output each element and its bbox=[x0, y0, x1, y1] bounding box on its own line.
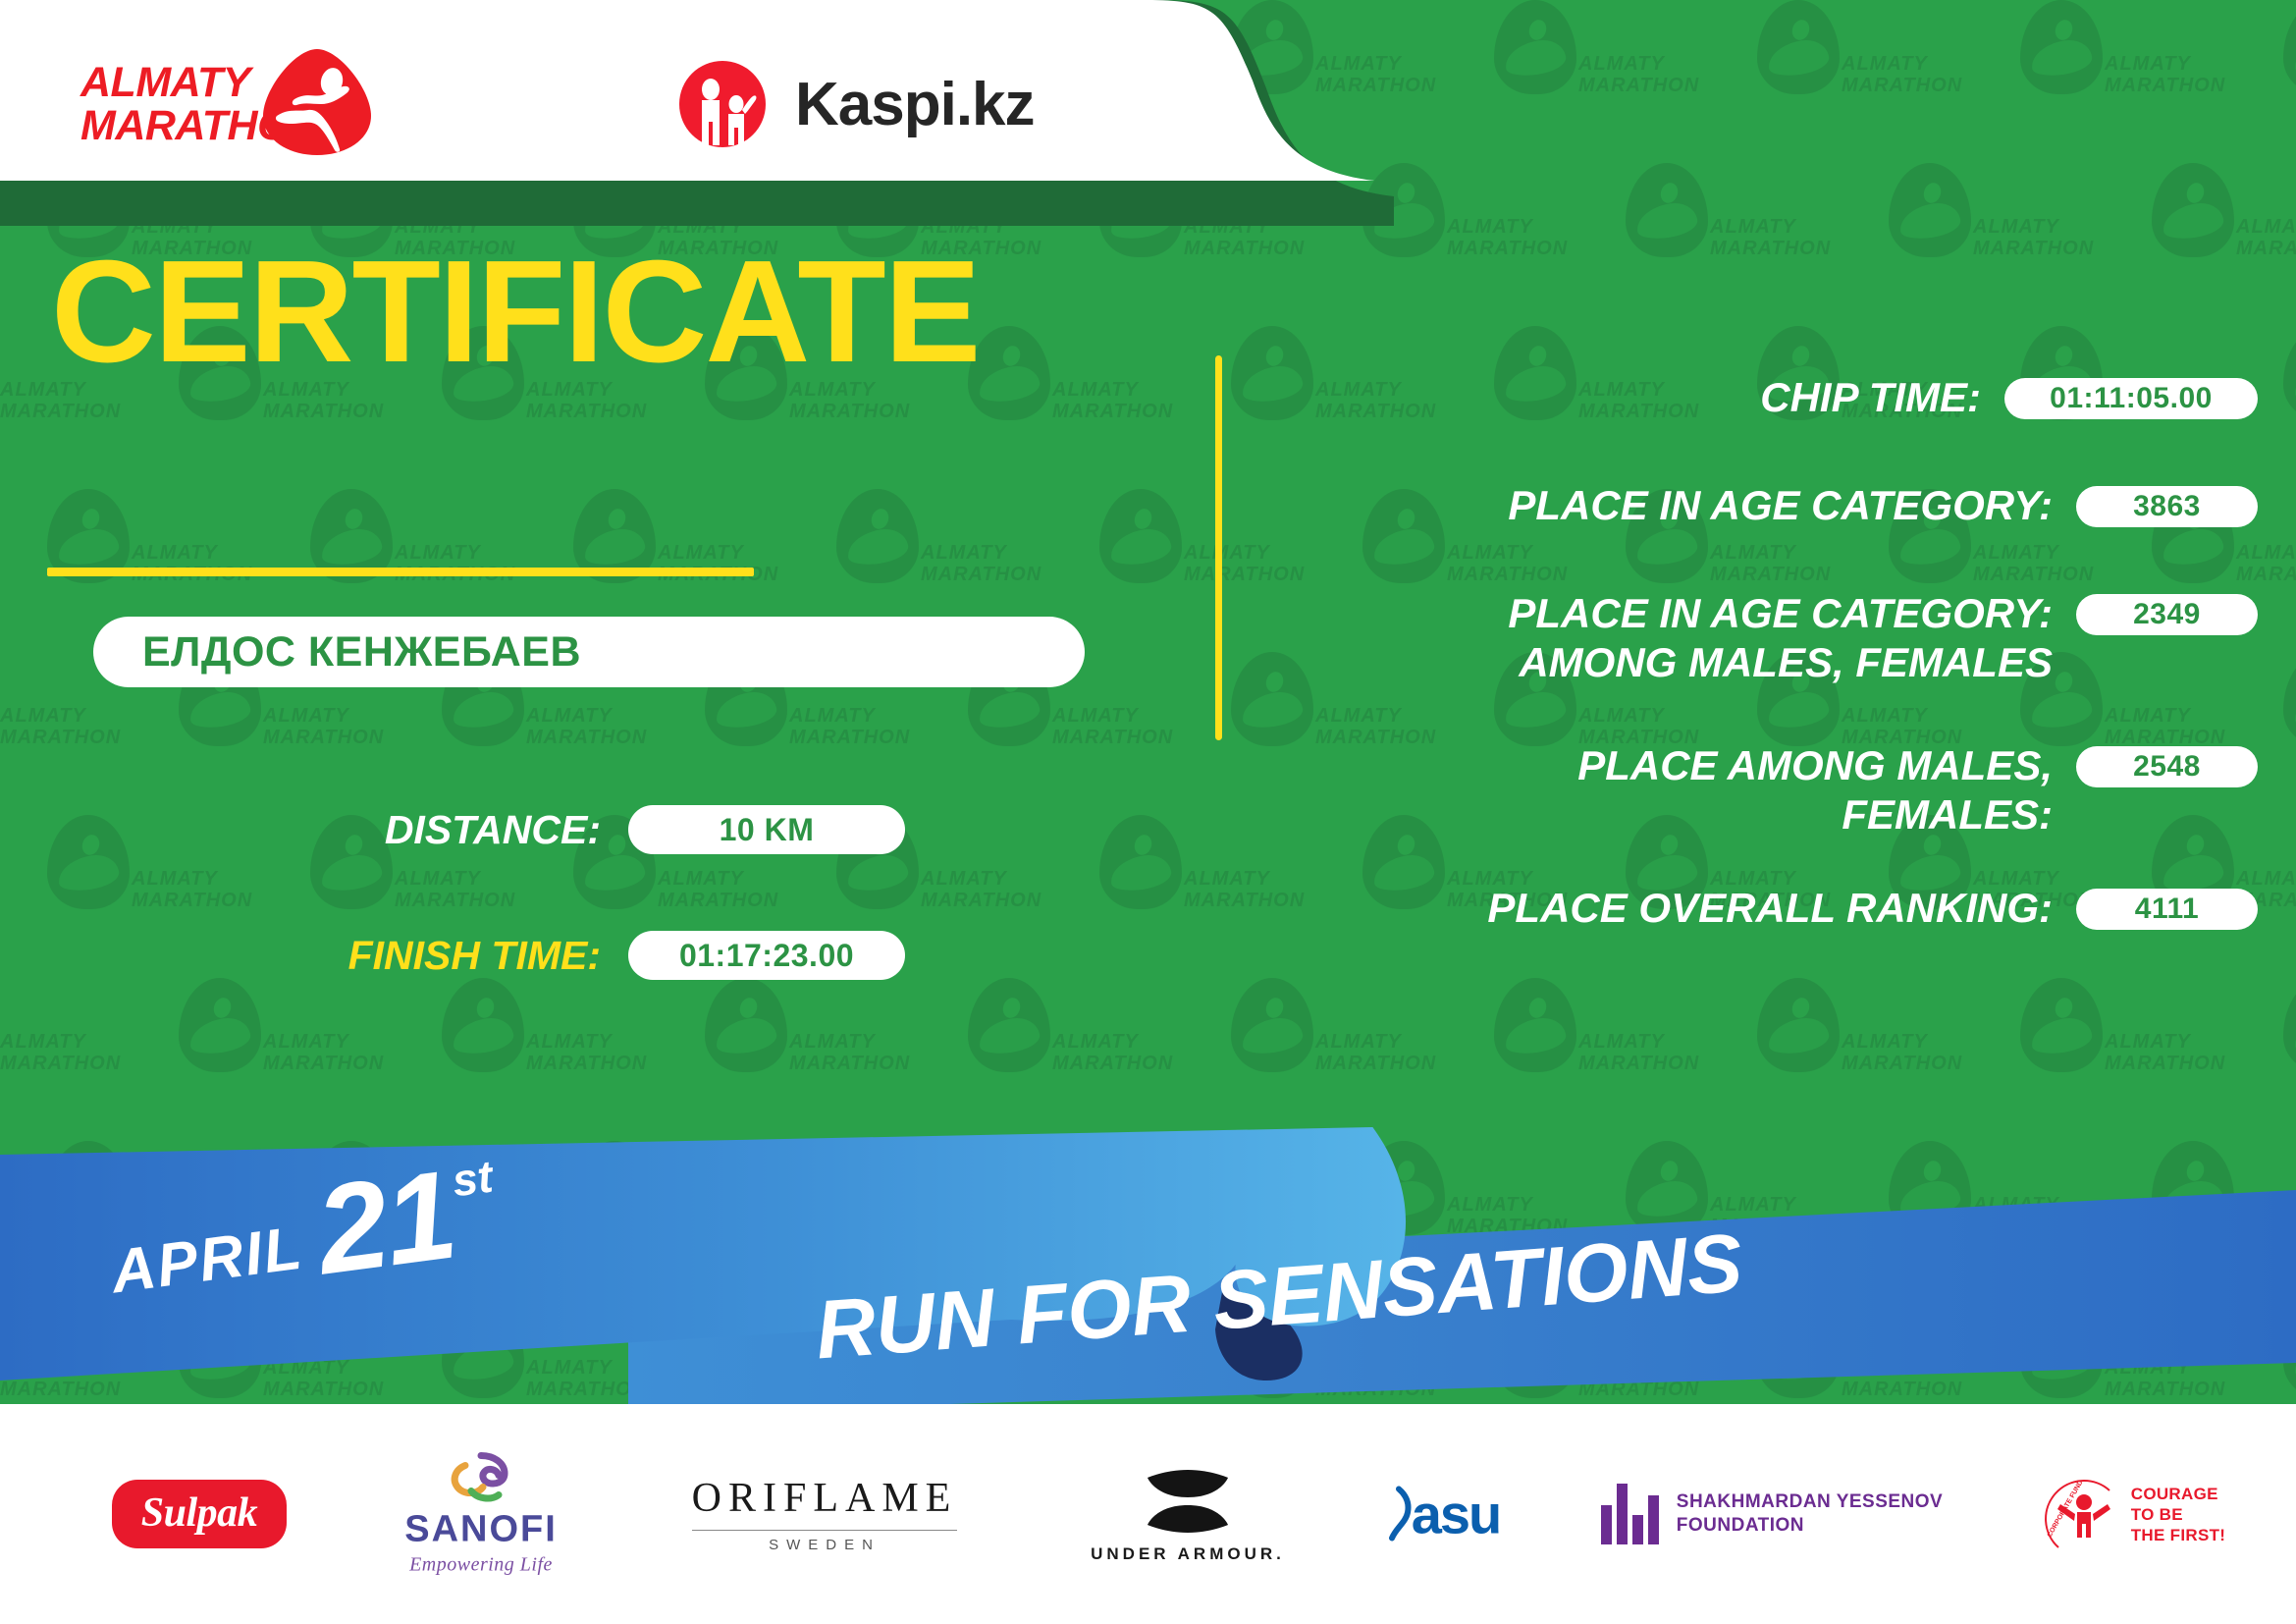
watermark-line1: ALMATY bbox=[921, 542, 1007, 565]
courage-person-icon: CORPORATE FUND bbox=[2045, 1475, 2121, 1553]
watermark-tile: ALMATYMARATHON bbox=[1842, 0, 2105, 163]
watermark-drop-icon bbox=[179, 1304, 261, 1398]
stat-value-place-age-category: 3863 bbox=[2133, 490, 2201, 523]
watermark-line2: MARATHON bbox=[2105, 1053, 2225, 1075]
watermark-tile: ALMATYMARATHON bbox=[1578, 978, 1842, 1141]
yessenov-wordmark: SHAKHMARDAN YESSENOV FOUNDATION bbox=[1677, 1490, 1943, 1538]
watermark-tile: ALMATYMARATHON bbox=[1315, 1304, 1578, 1404]
watermark-line1: ALMATY bbox=[2105, 53, 2191, 76]
watermark-line1: ALMATY bbox=[526, 1357, 613, 1380]
watermark-tile: ALMATYMARATHON bbox=[2236, 163, 2296, 326]
participant-name-field: ЕЛДОС КЕНЖЕБАЕВ bbox=[93, 617, 1085, 687]
watermark-tile: ALMATYMARATHON bbox=[1710, 1141, 1973, 1304]
watermark-drop-icon bbox=[1757, 0, 1840, 94]
watermark-line2: MARATHON bbox=[2105, 1379, 2225, 1401]
watermark-line2: MARATHON bbox=[1842, 1379, 1962, 1401]
watermark-line2: MARATHON bbox=[1842, 1053, 1962, 1075]
watermark-line2: MARATHON bbox=[263, 1053, 384, 1075]
watermark-drop-icon bbox=[2020, 0, 2103, 94]
watermark-line2: MARATHON bbox=[1842, 75, 1962, 97]
sponsor-logo-courage-fund: CORPORATE FUND COURAGE TO BE THE FIRST! bbox=[2022, 1475, 2248, 1553]
watermark-line1: ALMATY bbox=[1315, 1031, 1402, 1054]
watermark-line2: MARATHON bbox=[658, 890, 778, 912]
watermark-drop-icon bbox=[836, 489, 919, 583]
finish-time-value-pill: 01:17:23.00 bbox=[628, 931, 905, 980]
watermark-drop-icon bbox=[1231, 1304, 1313, 1398]
stat-value-place-among-gender: 2548 bbox=[2133, 750, 2201, 784]
sponsor-logo-oriflame: ORIFLAME SWEDEN bbox=[677, 1475, 972, 1553]
watermark-line1: ALMATY bbox=[0, 1031, 86, 1054]
watermark-line2: MARATHON bbox=[132, 1216, 252, 1238]
watermark-line2: MARATHON bbox=[921, 564, 1041, 586]
distance-value: 10 KM bbox=[720, 812, 815, 848]
watermark-line1: ALMATY bbox=[658, 542, 744, 565]
courage-wordmark: COURAGE TO BE THE FIRST! bbox=[2131, 1484, 2226, 1545]
stat-label-line1: PLACE AMONG MALES, bbox=[1276, 741, 2053, 790]
watermark-drop-icon bbox=[573, 1141, 656, 1235]
watermark-line1: ALMATY bbox=[1578, 705, 1665, 728]
watermark-tile: ALMATYMARATHON bbox=[921, 1141, 1184, 1304]
watermark-line2: MARATHON bbox=[2236, 1216, 2296, 1238]
watermark-line1: ALMATY bbox=[921, 868, 1007, 891]
watermark-tile: ALMATYMARATHON bbox=[1973, 163, 2236, 326]
finish-time-row: FINISH TIME: 01:17:23.00 bbox=[0, 931, 1178, 980]
stat-label-line1: PLACE IN AGE CATEGORY: bbox=[1276, 589, 2053, 638]
watermark-line1: ALMATY bbox=[1710, 542, 1796, 565]
watermark-tile: ALMATYMARATHON bbox=[526, 978, 789, 1141]
watermark-line2: MARATHON bbox=[1315, 1379, 1436, 1401]
watermark-drop-icon bbox=[1494, 0, 1576, 94]
watermark-drop-icon bbox=[1362, 1141, 1445, 1235]
watermark-line1: ALMATY bbox=[0, 1357, 86, 1380]
watermark-drop-icon bbox=[2152, 163, 2234, 257]
sponsor-logo-sulpak: Sulpak bbox=[86, 1480, 312, 1548]
watermark-line2: MARATHON bbox=[921, 1216, 1041, 1238]
watermark-drop-icon bbox=[1494, 1304, 1576, 1398]
watermark-line1: ALMATY bbox=[1842, 1357, 1928, 1380]
watermark-line1: ALMATY bbox=[1578, 1357, 1665, 1380]
watermark-line2: MARATHON bbox=[1973, 238, 2094, 260]
watermark-line2: MARATHON bbox=[526, 401, 647, 423]
watermark-drop-icon bbox=[2283, 0, 2296, 94]
watermark-line2: MARATHON bbox=[789, 727, 910, 749]
watermark-line1: ALMATY bbox=[1315, 1357, 1402, 1380]
sanofi-tagline: Empowering Life bbox=[404, 1554, 558, 1577]
watermark-drop-icon bbox=[1231, 978, 1313, 1072]
watermark-line1: ALMATY bbox=[2105, 705, 2191, 728]
watermark-drop-icon bbox=[1626, 1141, 1708, 1235]
watermark-line2: MARATHON bbox=[395, 1216, 515, 1238]
watermark-line2: MARATHON bbox=[0, 727, 121, 749]
courage-line1: COURAGE bbox=[2131, 1484, 2226, 1504]
watermark-line2: MARATHON bbox=[789, 1053, 910, 1075]
watermark-line1: ALMATY bbox=[1184, 868, 1270, 891]
watermark-line1: ALMATY bbox=[1842, 1031, 1928, 1054]
stat-value-pill-place-age-category-gender: 2349 bbox=[2076, 594, 2258, 635]
watermark-line2: MARATHON bbox=[1447, 1216, 1568, 1238]
watermark-line2: MARATHON bbox=[1447, 238, 1568, 260]
watermark-drop-icon bbox=[2283, 978, 2296, 1072]
stat-label-place-age-category: PLACE IN AGE CATEGORY: bbox=[1276, 481, 2076, 530]
watermark-tile: ALMATYMARATHON bbox=[2105, 1304, 2296, 1404]
watermark-drop-icon bbox=[968, 978, 1050, 1072]
stat-value-place-overall: 4111 bbox=[2135, 893, 2199, 926]
watermark-line2: MARATHON bbox=[1973, 1216, 2094, 1238]
oriflame-divider bbox=[692, 1530, 958, 1531]
watermark-line1: ALMATY bbox=[526, 1031, 613, 1054]
watermark-tile: ALMATYMARATHON bbox=[263, 1304, 526, 1404]
watermark-line2: MARATHON bbox=[263, 1379, 384, 1401]
watermark-drop-icon bbox=[1757, 1304, 1840, 1398]
watermark-line2: MARATHON bbox=[1184, 1216, 1305, 1238]
watermark-line2: MARATHON bbox=[1973, 564, 2094, 586]
oriflame-wordmark: ORIFLAME bbox=[692, 1475, 958, 1522]
yessenov-line1: SHAKHMARDAN YESSENOV bbox=[1677, 1490, 1943, 1514]
watermark-line2: MARATHON bbox=[789, 401, 910, 423]
watermark-line2: MARATHON bbox=[0, 1053, 121, 1075]
watermark-tile: ALMATYMARATHON bbox=[2105, 0, 2296, 163]
watermark-line1: ALMATY bbox=[263, 705, 349, 728]
stat-label-place-age-category-gender: PLACE IN AGE CATEGORY: AMONG MALES, FEMA… bbox=[1276, 589, 2076, 687]
watermark-line2: MARATHON bbox=[1578, 1053, 1699, 1075]
watermark-line2: MARATHON bbox=[1578, 1379, 1699, 1401]
watermark-tile: ALMATYMARATHON bbox=[1973, 1141, 2236, 1304]
finish-time-label: FINISH TIME: bbox=[0, 933, 628, 979]
sanofi-mark-icon bbox=[442, 1452, 520, 1505]
watermark-line2: MARATHON bbox=[1710, 564, 1831, 586]
watermark-tile: ALMATYMARATHON bbox=[1842, 1304, 2105, 1404]
watermark-drop-icon bbox=[442, 1304, 524, 1398]
stat-value-pill-place-overall: 4111 bbox=[2076, 889, 2258, 930]
sponsor-strip: Sulpak SANOFI Empowering Life ORIFLAME S… bbox=[0, 1404, 2296, 1624]
watermark-tile: ALMATYMARATHON bbox=[1447, 1141, 1710, 1304]
watermark-line1: ALMATY bbox=[132, 542, 218, 565]
watermark-line1: ALMATY bbox=[263, 1357, 349, 1380]
stat-row-place-overall: PLACE OVERALL RANKING: 4111 bbox=[1276, 884, 2258, 933]
watermark-drop-icon bbox=[1494, 978, 1576, 1072]
watermark-drop-icon bbox=[2020, 1304, 2103, 1398]
stat-label-line2: FEMALES: bbox=[1276, 790, 2053, 839]
watermark-tile: ALMATYMARATHON bbox=[0, 1304, 263, 1404]
watermark-drop-icon bbox=[47, 1141, 130, 1235]
stat-label-place-overall: PLACE OVERALL RANKING: bbox=[1276, 884, 2076, 933]
stat-row-place-age-category: PLACE IN AGE CATEGORY: 3863 bbox=[1276, 481, 2258, 530]
sulpak-wordmark: Sulpak bbox=[141, 1490, 257, 1536]
watermark-line2: MARATHON bbox=[1447, 564, 1568, 586]
watermark-drop-icon bbox=[1099, 489, 1182, 583]
watermark-line2: MARATHON bbox=[0, 401, 121, 423]
runner-drop-icon bbox=[259, 47, 375, 157]
watermark-line2: MARATHON bbox=[1052, 1379, 1173, 1401]
asu-mark-icon bbox=[1386, 1485, 1412, 1543]
watermark-line2: MARATHON bbox=[1578, 75, 1699, 97]
watermark-line1: ALMATY bbox=[1447, 1194, 1533, 1217]
oriflame-sub: SWEDEN bbox=[692, 1537, 958, 1553]
watermark-line1: ALMATY bbox=[2236, 1194, 2296, 1217]
watermark-tile: ALMATYMARATHON bbox=[263, 978, 526, 1141]
under-armour-icon bbox=[1114, 1464, 1261, 1539]
watermark-line2: MARATHON bbox=[1710, 1216, 1831, 1238]
watermark-line1: ALMATY bbox=[263, 1031, 349, 1054]
stat-row-chip-time: CHIP TIME: 01:11:05.00 bbox=[1276, 373, 2258, 422]
under-armour-wordmark: UNDER ARMOUR. bbox=[1091, 1544, 1285, 1564]
watermark-line1: ALMATY bbox=[789, 1357, 876, 1380]
watermark-drop-icon bbox=[836, 1141, 919, 1235]
stat-label-place-among-gender: PLACE AMONG MALES, FEMALES: bbox=[1276, 741, 2076, 839]
watermark-line2: MARATHON bbox=[526, 727, 647, 749]
watermark-tile: ALMATYMARATHON bbox=[1578, 1304, 1842, 1404]
watermark-tile: ALMATYMARATHON bbox=[2236, 1141, 2296, 1304]
courage-line3: THE FIRST! bbox=[2131, 1525, 2226, 1545]
watermark-drop-icon bbox=[968, 1304, 1050, 1398]
watermark-tile: ALMATYMARATHON bbox=[395, 1141, 658, 1304]
stat-value-pill-place-age-category: 3863 bbox=[2076, 486, 2258, 527]
kaspi-people-icon bbox=[675, 57, 770, 151]
watermark-tile: ALMATYMARATHON bbox=[1710, 163, 1973, 326]
watermark-line1: ALMATY bbox=[1973, 542, 2059, 565]
watermark-drop-icon bbox=[2152, 1141, 2234, 1235]
watermark-line1: ALMATY bbox=[395, 542, 481, 565]
watermark-drop-icon bbox=[2020, 978, 2103, 1072]
sponsor-logo-asu: asu bbox=[1345, 1483, 1541, 1546]
watermark-line1: ALMATY bbox=[1315, 705, 1402, 728]
watermark-line2: MARATHON bbox=[0, 1379, 121, 1401]
sponsor-logo-under-armour: UNDER ARMOUR. bbox=[1070, 1464, 1306, 1564]
watermark-line1: ALMATY bbox=[1052, 379, 1139, 402]
courage-line2: TO BE bbox=[2131, 1504, 2226, 1525]
watermark-tile: ALMATYMARATHON bbox=[1052, 1304, 1315, 1404]
stat-value-chip-time: 01:11:05.00 bbox=[2050, 382, 2213, 415]
watermark-tile: ALMATYMARATHON bbox=[658, 1141, 921, 1304]
watermark-line1: ALMATY bbox=[526, 705, 613, 728]
watermark-tile: ALMATYMARATHON bbox=[1842, 978, 2105, 1141]
watermark-line1: ALMATY bbox=[1842, 705, 1928, 728]
watermark-tile: ALMATYMARATHON bbox=[789, 1304, 1052, 1404]
stat-row-place-age-category-gender: PLACE IN AGE CATEGORY: AMONG MALES, FEMA… bbox=[1276, 589, 2258, 687]
watermark-line1: ALMATY bbox=[2236, 542, 2296, 565]
watermark-line2: MARATHON bbox=[1052, 727, 1173, 749]
title-divider bbox=[47, 568, 754, 576]
watermark-line2: MARATHON bbox=[2236, 238, 2296, 260]
watermark-tile: ALMATYMARATHON bbox=[1184, 1141, 1447, 1304]
watermark-drop-icon bbox=[2283, 1304, 2296, 1398]
finish-time-value: 01:17:23.00 bbox=[679, 938, 854, 974]
yessenov-line2: FOUNDATION bbox=[1677, 1514, 1943, 1538]
distance-value-pill: 10 KM bbox=[628, 805, 905, 854]
sponsor-logo-yessenov-foundation: SHAKHMARDAN YESSENOV FOUNDATION bbox=[1600, 1484, 1944, 1544]
watermark-tile: ALMATYMARATHON bbox=[1052, 978, 1315, 1141]
watermark-line1: ALMATY bbox=[2236, 216, 2296, 239]
watermark-line1: ALMATY bbox=[2105, 1357, 2191, 1380]
watermark-line1: ALMATY bbox=[1447, 542, 1533, 565]
watermark-tile: ALMATYMARATHON bbox=[1315, 978, 1578, 1141]
watermark-drop-icon bbox=[310, 1141, 393, 1235]
watermark-line1: ALMATY bbox=[1578, 1031, 1665, 1054]
watermark-line1: ALMATY bbox=[921, 1194, 1007, 1217]
watermark-line2: MARATHON bbox=[395, 890, 515, 912]
stat-label-line2: AMONG MALES, FEMALES bbox=[1276, 638, 2053, 687]
distance-label: DISTANCE: bbox=[0, 807, 628, 853]
sponsor-logo-sanofi: SANOFI Empowering Life bbox=[368, 1452, 594, 1577]
watermark-line1: ALMATY bbox=[658, 1194, 744, 1217]
watermark-line1: ALMATY bbox=[1184, 1194, 1270, 1217]
watermark-line1: ALMATY bbox=[2105, 1031, 2191, 1054]
watermark-line2: MARATHON bbox=[132, 890, 252, 912]
watermark-line1: ALMATY bbox=[0, 705, 86, 728]
watermark-line2: MARATHON bbox=[1710, 238, 1831, 260]
watermark-drop-icon bbox=[2283, 326, 2296, 420]
watermark-drop-icon bbox=[1757, 978, 1840, 1072]
certificate-canvas: ALMATYMARATHONALMATYMARATHONALMATYMARATH… bbox=[0, 0, 2296, 1624]
watermark-tile: ALMATYMARATHON bbox=[132, 1141, 395, 1304]
watermark-line1: ALMATY bbox=[1052, 1357, 1139, 1380]
watermark-drop-icon bbox=[2283, 652, 2296, 746]
watermark-line2: MARATHON bbox=[921, 890, 1041, 912]
stat-label-chip-time: CHIP TIME: bbox=[1276, 373, 2004, 422]
asu-wordmark: asu bbox=[1412, 1483, 1501, 1546]
watermark-line2: MARATHON bbox=[1184, 238, 1305, 260]
watermark-drop-icon bbox=[442, 978, 524, 1072]
watermark-line1: ALMATY bbox=[1710, 1194, 1796, 1217]
watermark-line2: MARATHON bbox=[2105, 75, 2225, 97]
watermark-line1: ALMATY bbox=[132, 1194, 218, 1217]
watermark-tile: ALMATYMARATHON bbox=[0, 978, 263, 1141]
watermark-drop-icon bbox=[179, 978, 261, 1072]
watermark-drop-icon bbox=[1099, 1141, 1182, 1235]
watermark-drop-icon bbox=[968, 326, 1050, 420]
watermark-line2: MARATHON bbox=[789, 1379, 910, 1401]
watermark-line2: MARATHON bbox=[1052, 1053, 1173, 1075]
watermark-tile: ALMATYMARATHON bbox=[526, 1304, 789, 1404]
watermark-line2: MARATHON bbox=[263, 727, 384, 749]
watermark-tile: ALMATYMARATHON bbox=[1578, 0, 1842, 163]
watermark-line1: ALMATY bbox=[1052, 705, 1139, 728]
watermark-line2: MARATHON bbox=[658, 1216, 778, 1238]
distance-row: DISTANCE: 10 KM bbox=[0, 805, 1178, 854]
watermark-drop-icon bbox=[705, 1304, 787, 1398]
watermark-drop-icon bbox=[1889, 1141, 1971, 1235]
page-title: CERTIFICATE bbox=[51, 239, 979, 386]
watermark-line1: ALMATY bbox=[1052, 1031, 1139, 1054]
watermark-line2: MARATHON bbox=[526, 1053, 647, 1075]
stat-value-place-age-category-gender: 2349 bbox=[2133, 598, 2201, 631]
watermark-drop-icon bbox=[1889, 163, 1971, 257]
watermark-line1: ALMATY bbox=[395, 1194, 481, 1217]
yessenov-bars-icon bbox=[1601, 1484, 1659, 1544]
watermark-line1: ALMATY bbox=[132, 868, 218, 891]
watermark-line2: MARATHON bbox=[1052, 401, 1173, 423]
almaty-marathon-logo: ALMATY MARATHON bbox=[80, 47, 385, 157]
kaspi-logo: Kaspi.kz bbox=[675, 57, 1088, 151]
watermark-line1: ALMATY bbox=[1184, 542, 1270, 565]
watermark-drop-icon bbox=[1626, 163, 1708, 257]
watermark-line1: ALMATY bbox=[789, 705, 876, 728]
stat-value-pill-place-among-gender: 2548 bbox=[2076, 746, 2258, 787]
watermark-tile: ALMATYMARATHON bbox=[2105, 978, 2296, 1141]
watermark-line1: ALMATY bbox=[1842, 53, 1928, 76]
watermark-tile: ALMATYMARATHON bbox=[0, 1141, 132, 1304]
watermark-line1: ALMATY bbox=[1973, 1194, 2059, 1217]
watermark-line2: MARATHON bbox=[1315, 1053, 1436, 1075]
watermark-line2: MARATHON bbox=[263, 401, 384, 423]
stat-value-pill-chip-time: 01:11:05.00 bbox=[2004, 378, 2258, 419]
kaspi-wordmark: Kaspi.kz bbox=[795, 70, 1035, 139]
watermark-drop-icon bbox=[705, 978, 787, 1072]
sanofi-wordmark: SANOFI bbox=[404, 1509, 558, 1551]
watermark-line2: MARATHON bbox=[526, 1379, 647, 1401]
watermark-line1: ALMATY bbox=[1578, 53, 1665, 76]
column-divider bbox=[1215, 355, 1222, 740]
watermark-line2: MARATHON bbox=[2236, 564, 2296, 586]
watermark-line2: MARATHON bbox=[1184, 564, 1305, 586]
watermark-line1: ALMATY bbox=[1973, 216, 2059, 239]
watermark-tile: ALMATYMARATHON bbox=[1447, 163, 1710, 326]
watermark-line1: ALMATY bbox=[1710, 216, 1796, 239]
watermark-line1: ALMATY bbox=[658, 868, 744, 891]
participant-name-value: ЕЛДОС КЕНЖЕБАЕВ bbox=[142, 628, 581, 677]
watermark-tile: ALMATYMARATHON bbox=[789, 978, 1052, 1141]
watermark-line1: ALMATY bbox=[395, 868, 481, 891]
watermark-line1: ALMATY bbox=[1447, 216, 1533, 239]
watermark-line1: ALMATY bbox=[789, 1031, 876, 1054]
stat-row-place-among-gender: PLACE AMONG MALES, FEMALES: 2548 bbox=[1276, 741, 2258, 839]
